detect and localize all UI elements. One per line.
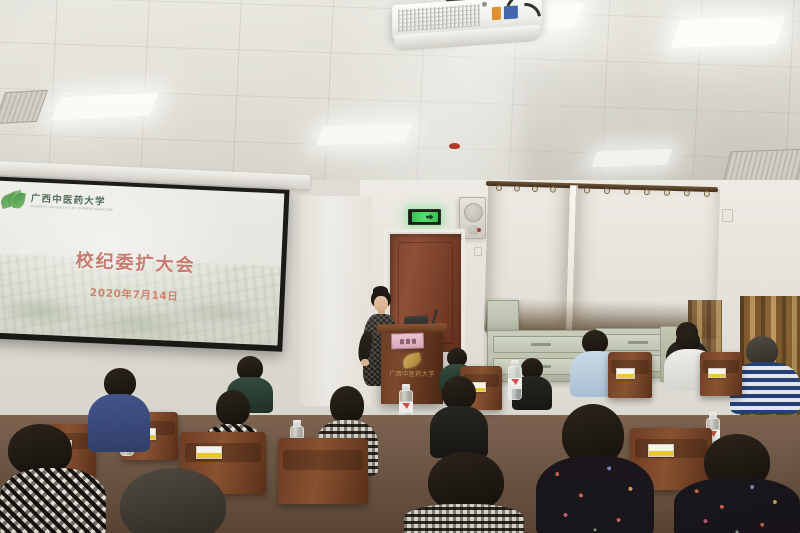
- speaker-led-indicator: [477, 228, 481, 232]
- torso: [404, 504, 524, 533]
- projector-vent-grille: [398, 4, 480, 32]
- projection-screen: 广西中医药大学 GUANGXI UNIVERSITY OF CHINESE ME…: [0, 176, 290, 351]
- leaf-logo-icon: [0, 190, 27, 211]
- led-panel-light-2: [316, 123, 413, 145]
- podium-leaf-emblem-icon: [402, 352, 422, 368]
- wall-switch-plate-1: [722, 209, 733, 222]
- attendee-foreground-center: [404, 452, 524, 533]
- led-panel-light-4: [671, 16, 785, 48]
- chair[interactable]: [278, 438, 368, 504]
- exit-running-man-icon: [412, 212, 438, 222]
- attendee-foreground-right: [674, 434, 800, 533]
- smoke-detector-icon: [449, 143, 460, 149]
- head: [216, 390, 250, 426]
- water-bottle: [508, 360, 522, 400]
- attendee-foreground-gray-hair: [104, 468, 244, 533]
- speaker-cone-icon: [464, 203, 483, 222]
- podium-name-card: [391, 332, 425, 349]
- torso: [430, 406, 488, 458]
- head: [428, 452, 504, 512]
- head: [120, 468, 226, 533]
- attendee-foreground-left-houndstooth: [0, 428, 106, 533]
- attendee-dark-tee: [430, 376, 488, 454]
- exit-sign: [408, 209, 441, 225]
- torso: [674, 478, 800, 533]
- wall-switch-plate-2: [474, 247, 482, 256]
- chair-name-tag: [708, 368, 726, 378]
- attendee-floral-dress: [536, 404, 654, 533]
- led-panel-light-5: [592, 149, 673, 168]
- head: [330, 386, 364, 424]
- head: [442, 376, 476, 410]
- torso: [0, 468, 106, 533]
- torso: [536, 456, 654, 533]
- chair-name-tag: [616, 368, 635, 379]
- meeting-room-photo: 广西中医药大学 GUANGXI UNIVERSITY OF CHINESE ME…: [0, 0, 800, 533]
- cabinet-small: [487, 300, 519, 332]
- projector-indicator: [482, 2, 487, 7]
- chair-name-tag: [196, 446, 222, 459]
